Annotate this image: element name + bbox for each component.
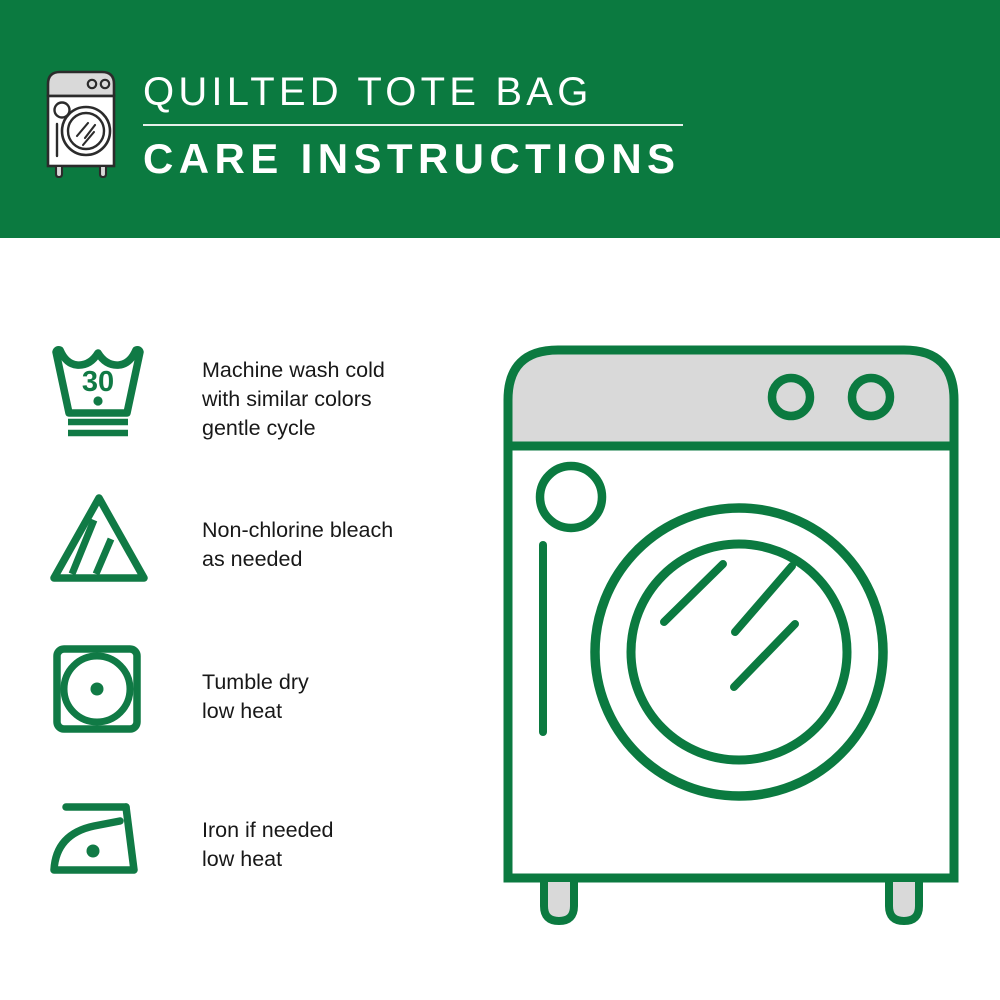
front-load-washing-machine-illustration	[496, 332, 966, 932]
list-item: Tumble dry low heat	[48, 636, 468, 786]
instruction-label: Non-chlorine bleach as needed	[166, 486, 393, 574]
list-item: 30 Machine wash cold with similar colors…	[48, 336, 468, 486]
non-chlorine-bleach-triangle-icon	[48, 486, 166, 600]
care-instructions-infographic: QUILTED TOTE BAG CARE INSTRUCTIONS 30	[0, 0, 1000, 1000]
svg-text:30: 30	[82, 366, 114, 398]
page-title: CARE INSTRUCTIONS	[143, 134, 703, 184]
wash-tub-30-gentle-icon: 30	[48, 336, 166, 450]
list-item: Iron if needed low heat	[48, 786, 468, 936]
title-divider	[143, 124, 683, 126]
iron-low-heat-icon	[48, 786, 166, 900]
instruction-label: Iron if needed low heat	[166, 786, 334, 874]
washing-machine-icon	[44, 66, 118, 178]
leg-left	[544, 878, 574, 921]
list-item: Non-chlorine bleach as needed	[48, 486, 468, 636]
header-band: QUILTED TOTE BAG CARE INSTRUCTIONS	[0, 0, 1000, 238]
header-title-block: QUILTED TOTE BAG CARE INSTRUCTIONS	[143, 68, 703, 184]
instruction-label: Machine wash cold with similar colors ge…	[166, 336, 385, 443]
instruction-label: Tumble dry low heat	[166, 636, 309, 726]
leg-right	[889, 878, 919, 921]
product-title: QUILTED TOTE BAG	[143, 68, 703, 116]
instruction-list: 30 Machine wash cold with similar colors…	[48, 336, 468, 936]
tumble-dry-low-heat-icon	[48, 636, 166, 750]
